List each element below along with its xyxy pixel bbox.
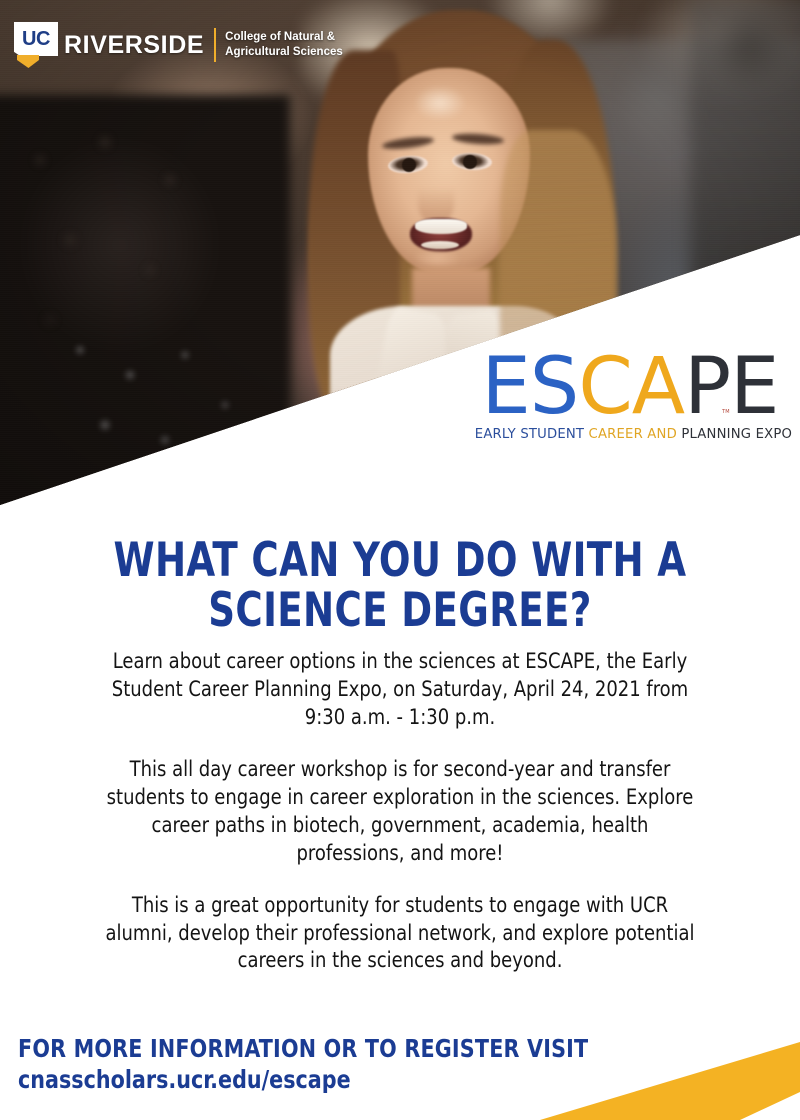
escape-wordmark: ESCAPE TM: [470, 352, 790, 424]
ucr-logo: UC RIVERSIDE College of Natural & Agricu…: [14, 22, 343, 68]
uc-monogram: UC: [14, 22, 58, 56]
page-title-line1: WHAT CAN YOU DO WITH A: [101, 536, 699, 586]
college-name-line1: College of Natural &: [225, 30, 343, 45]
uc-gold-tab-icon: [17, 55, 39, 68]
register-cta-text: FOR MORE INFORMATION OR TO REGISTER VISI…: [18, 1035, 588, 1063]
escape-wordmark-part-es: ES: [482, 342, 579, 432]
uc-shield-icon: UC: [14, 22, 60, 68]
escape-logo: ESCAPE TM EARLY STUDENT CAREER AND PLANN…: [470, 352, 790, 442]
body-paragraph-3: This is a great opportunity for students…: [102, 892, 697, 976]
logo-divider: [214, 28, 216, 62]
poster-root: UC RIVERSIDE College of Natural & Agricu…: [0, 0, 800, 1120]
college-name: College of Natural & Agricultural Scienc…: [225, 30, 343, 59]
escape-wordmark-part-ca: CA: [578, 342, 684, 432]
register-url[interactable]: cnasscholars.ucr.edu/escape: [18, 1065, 588, 1095]
college-name-line2: Agricultural Sciences: [225, 45, 343, 60]
hero-photo: [0, 0, 800, 520]
trademark-icon: TM: [722, 410, 730, 415]
photo-grain: [0, 0, 800, 520]
body-paragraph-1: Learn about career options in the scienc…: [102, 648, 697, 732]
page-title: WHAT CAN YOU DO WITH A SCIENCE DEGREE?: [101, 536, 699, 636]
page-title-line2: SCIENCE DEGREE?: [101, 586, 699, 636]
escape-tagline-part-planning-expo: PLANNING EXPO: [681, 426, 792, 442]
escape-tagline-part-early-student: EARLY STUDENT: [475, 426, 589, 442]
escape-tagline-part-career-and: CAREER AND: [589, 426, 682, 442]
body-paragraph-2: This all day career workshop is for seco…: [102, 756, 697, 868]
escape-wordmark-part-pe: PE: [684, 342, 778, 432]
ucr-wordmark: RIVERSIDE: [64, 33, 204, 58]
body-copy: Learn about career options in the scienc…: [102, 648, 697, 975]
footer: FOR MORE INFORMATION OR TO REGISTER VISI…: [18, 1035, 638, 1094]
escape-tagline: EARLY STUDENT CAREER AND PLANNING EXPO: [475, 426, 785, 442]
